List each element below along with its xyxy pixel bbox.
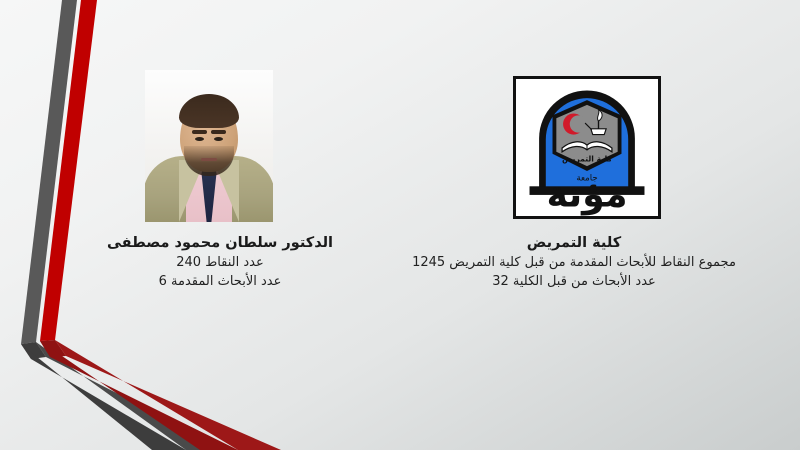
faculty-research-count-line: عدد الأبحاث من قبل الكلية 32 bbox=[368, 272, 780, 291]
doctor-research-count-line: عدد الأبحاث المقدمة 6 bbox=[20, 272, 420, 291]
red-band-lower bbox=[55, 340, 281, 450]
gray-band-lower bbox=[36, 342, 228, 450]
logo-university-name: مؤتة bbox=[546, 172, 627, 215]
faculty-points-line: مجموع النقاط للأبحاث المقدمة من قبل كلية… bbox=[368, 253, 780, 272]
corner-chevron-ribbon bbox=[0, 0, 800, 450]
red-band-lower-shadow bbox=[40, 341, 238, 450]
photo-eye-right bbox=[214, 137, 223, 141]
faculty-logo-graphic: كلية التمريض جامعة مؤتة bbox=[516, 79, 658, 216]
doctor-points-line: عدد النقاط 240 bbox=[20, 253, 420, 272]
faculty-name-title: كلية التمريض bbox=[368, 234, 780, 253]
doctor-name-title: الدكتور سلطان محمود مصطفى bbox=[20, 234, 420, 253]
photo-eye-left bbox=[195, 137, 204, 141]
slide-canvas: كلية التمريض جامعة مؤتة الدكتور سلطان مح… bbox=[0, 0, 800, 450]
photo-mouth bbox=[201, 158, 217, 161]
gray-band-upper bbox=[21, 0, 77, 344]
red-band-bend-shadow bbox=[40, 340, 66, 357]
gray-band-bend-shadow bbox=[21, 342, 46, 359]
doctor-portrait-photo bbox=[145, 70, 273, 222]
photo-eyebrow-left bbox=[192, 130, 207, 134]
faculty-logo: كلية التمريض جامعة مؤتة bbox=[513, 76, 661, 219]
photo-eyebrow-right bbox=[211, 130, 226, 134]
logo-inner-label: كلية التمريض bbox=[562, 154, 612, 163]
right-caption-block: كلية التمريض مجموع النقاط للأبحاث المقدم… bbox=[368, 234, 780, 291]
gray-band-lower-shadow bbox=[21, 344, 186, 450]
left-caption-block: الدكتور سلطان محمود مصطفى عدد النقاط 240… bbox=[20, 234, 420, 291]
